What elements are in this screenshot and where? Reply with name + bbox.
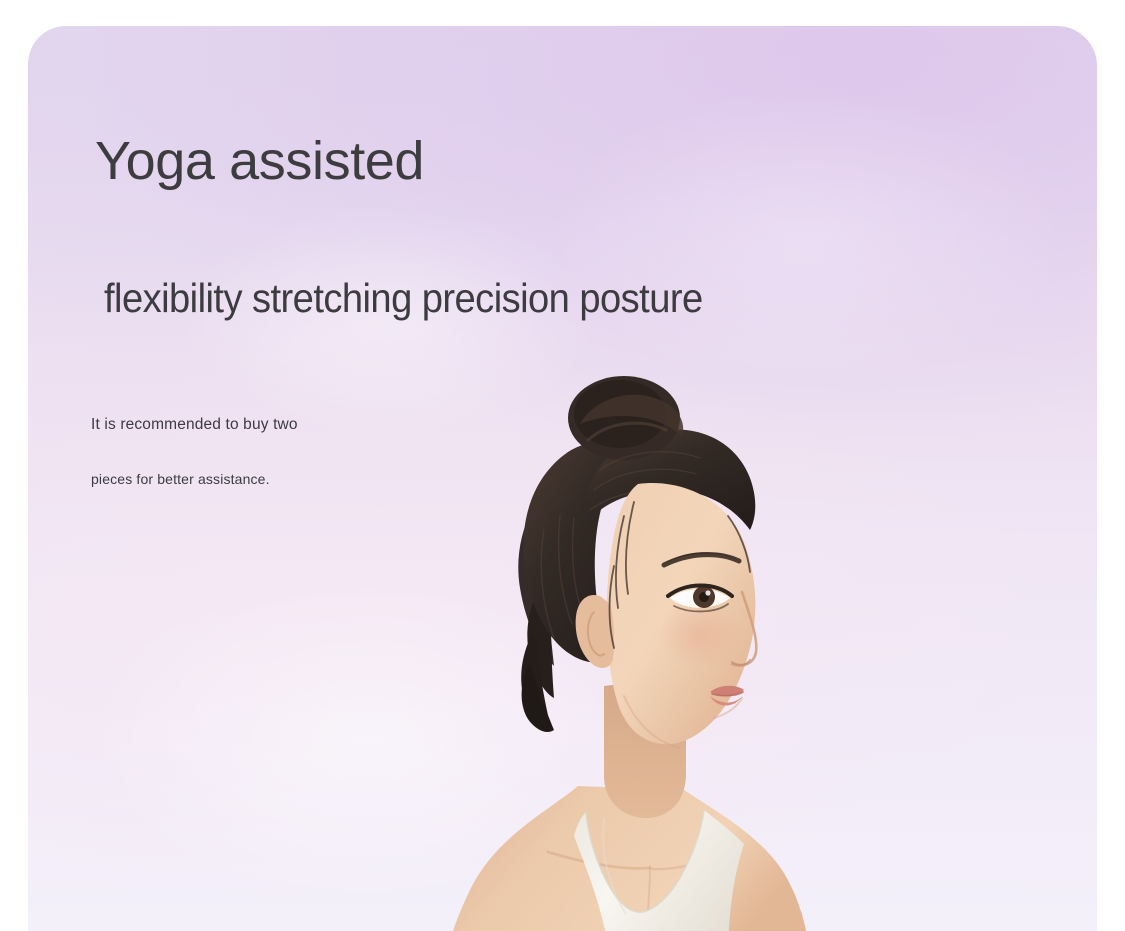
hero-headline: Yoga assisted	[95, 131, 424, 191]
hero-subheadline: flexibility stretching precision posture	[104, 276, 703, 322]
backdrop-glow-top-right	[548, 86, 1068, 386]
hero-panel: Yoga assisted flexibility stretching pre…	[28, 26, 1097, 931]
hero-body-line-2: pieces for better assistance.	[91, 470, 270, 488]
yoga-model-photo	[428, 366, 828, 931]
page-root: Yoga assisted flexibility stretching pre…	[0, 0, 1125, 931]
hero-body-line-1: It is recommended to buy two	[91, 415, 298, 435]
